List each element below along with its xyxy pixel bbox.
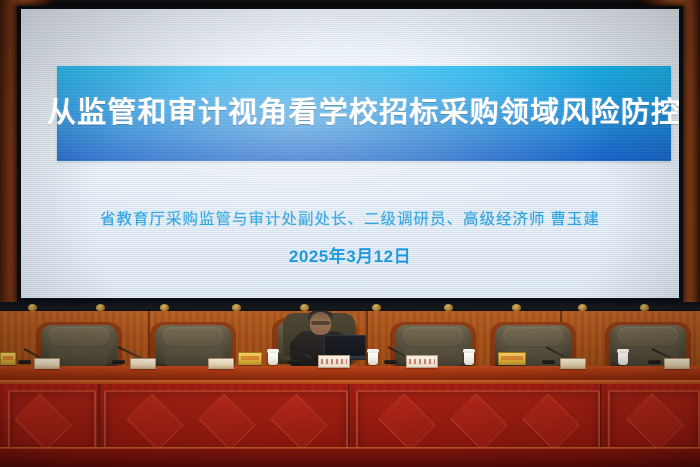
microphone-base — [648, 360, 661, 364]
podium-panel-3 — [356, 390, 600, 452]
teacup-3 — [464, 352, 474, 365]
placard-1 — [318, 355, 350, 368]
podium-base — [0, 449, 700, 467]
nameplate-3 — [208, 358, 234, 369]
projection-screen: 从监管和审计视角看学校招标采购领域风险防控 省教育厅采购监管与审计处副处长、二级… — [21, 9, 679, 298]
slide-title: 从监管和审计视角看学校招标采购领域风险防控 — [57, 66, 671, 161]
microphone-base — [288, 360, 301, 364]
gold-box-1 — [0, 352, 16, 365]
slide-subtitle: 省教育厅采购监管与审计处副处长、二级调研员、高级经济师 曹玉建 — [21, 207, 679, 229]
podium-panel-4 — [608, 390, 700, 452]
teacup-1 — [268, 352, 278, 365]
teacup-2 — [368, 352, 378, 365]
microphone-base — [542, 360, 555, 364]
speaker-glasses — [311, 321, 330, 325]
nameplate-2 — [130, 358, 156, 369]
gold-box-2 — [238, 352, 262, 365]
microphone-base — [112, 360, 125, 364]
slide-title-banner: 从监管和审计视角看学校招标采购领域风险防控 — [57, 66, 671, 161]
gold-box-3 — [498, 352, 526, 365]
slide-date: 2025年3月12日 — [21, 242, 679, 267]
nameplate-1 — [34, 358, 60, 369]
microphone-base — [18, 360, 31, 364]
nameplate-4 — [560, 358, 586, 369]
placard-2 — [406, 355, 438, 368]
teacup-4 — [618, 352, 628, 365]
conference-photo: 从监管和审计视角看学校招标采购领域风险防控 省教育厅采购监管与审计处副处长、二级… — [0, 0, 700, 467]
nameplate-5 — [664, 358, 690, 369]
podium-panel-2 — [104, 390, 348, 452]
podium-panel-1 — [8, 390, 96, 452]
microphone-base — [384, 360, 397, 364]
